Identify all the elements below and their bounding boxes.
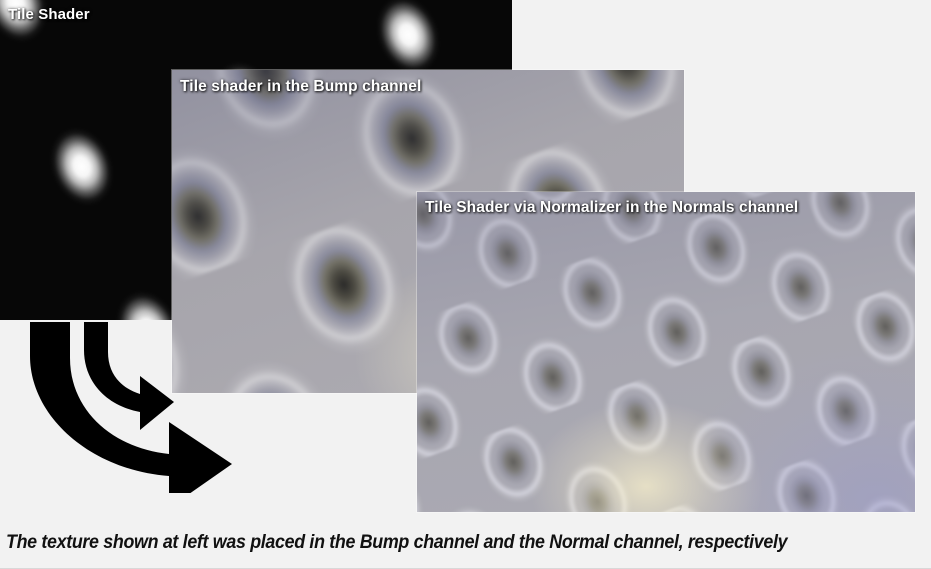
figure-canvas: Tile Shader Tile shader in the Bump chan… [0,0,931,569]
arrows-svg [28,318,248,493]
normals-channel-image [417,192,915,512]
curved-arrow-to-bump [84,322,174,430]
label-normals-channel: Tile Shader via Normalizer in the Normal… [425,199,798,217]
figure-caption: The texture shown at left was placed in … [6,532,787,554]
label-bump-channel: Tile shader in the Bump channel [180,78,421,96]
flow-arrows [28,318,248,493]
label-tile-shader: Tile Shader [8,6,90,23]
normals-dimple-pattern [417,192,915,512]
